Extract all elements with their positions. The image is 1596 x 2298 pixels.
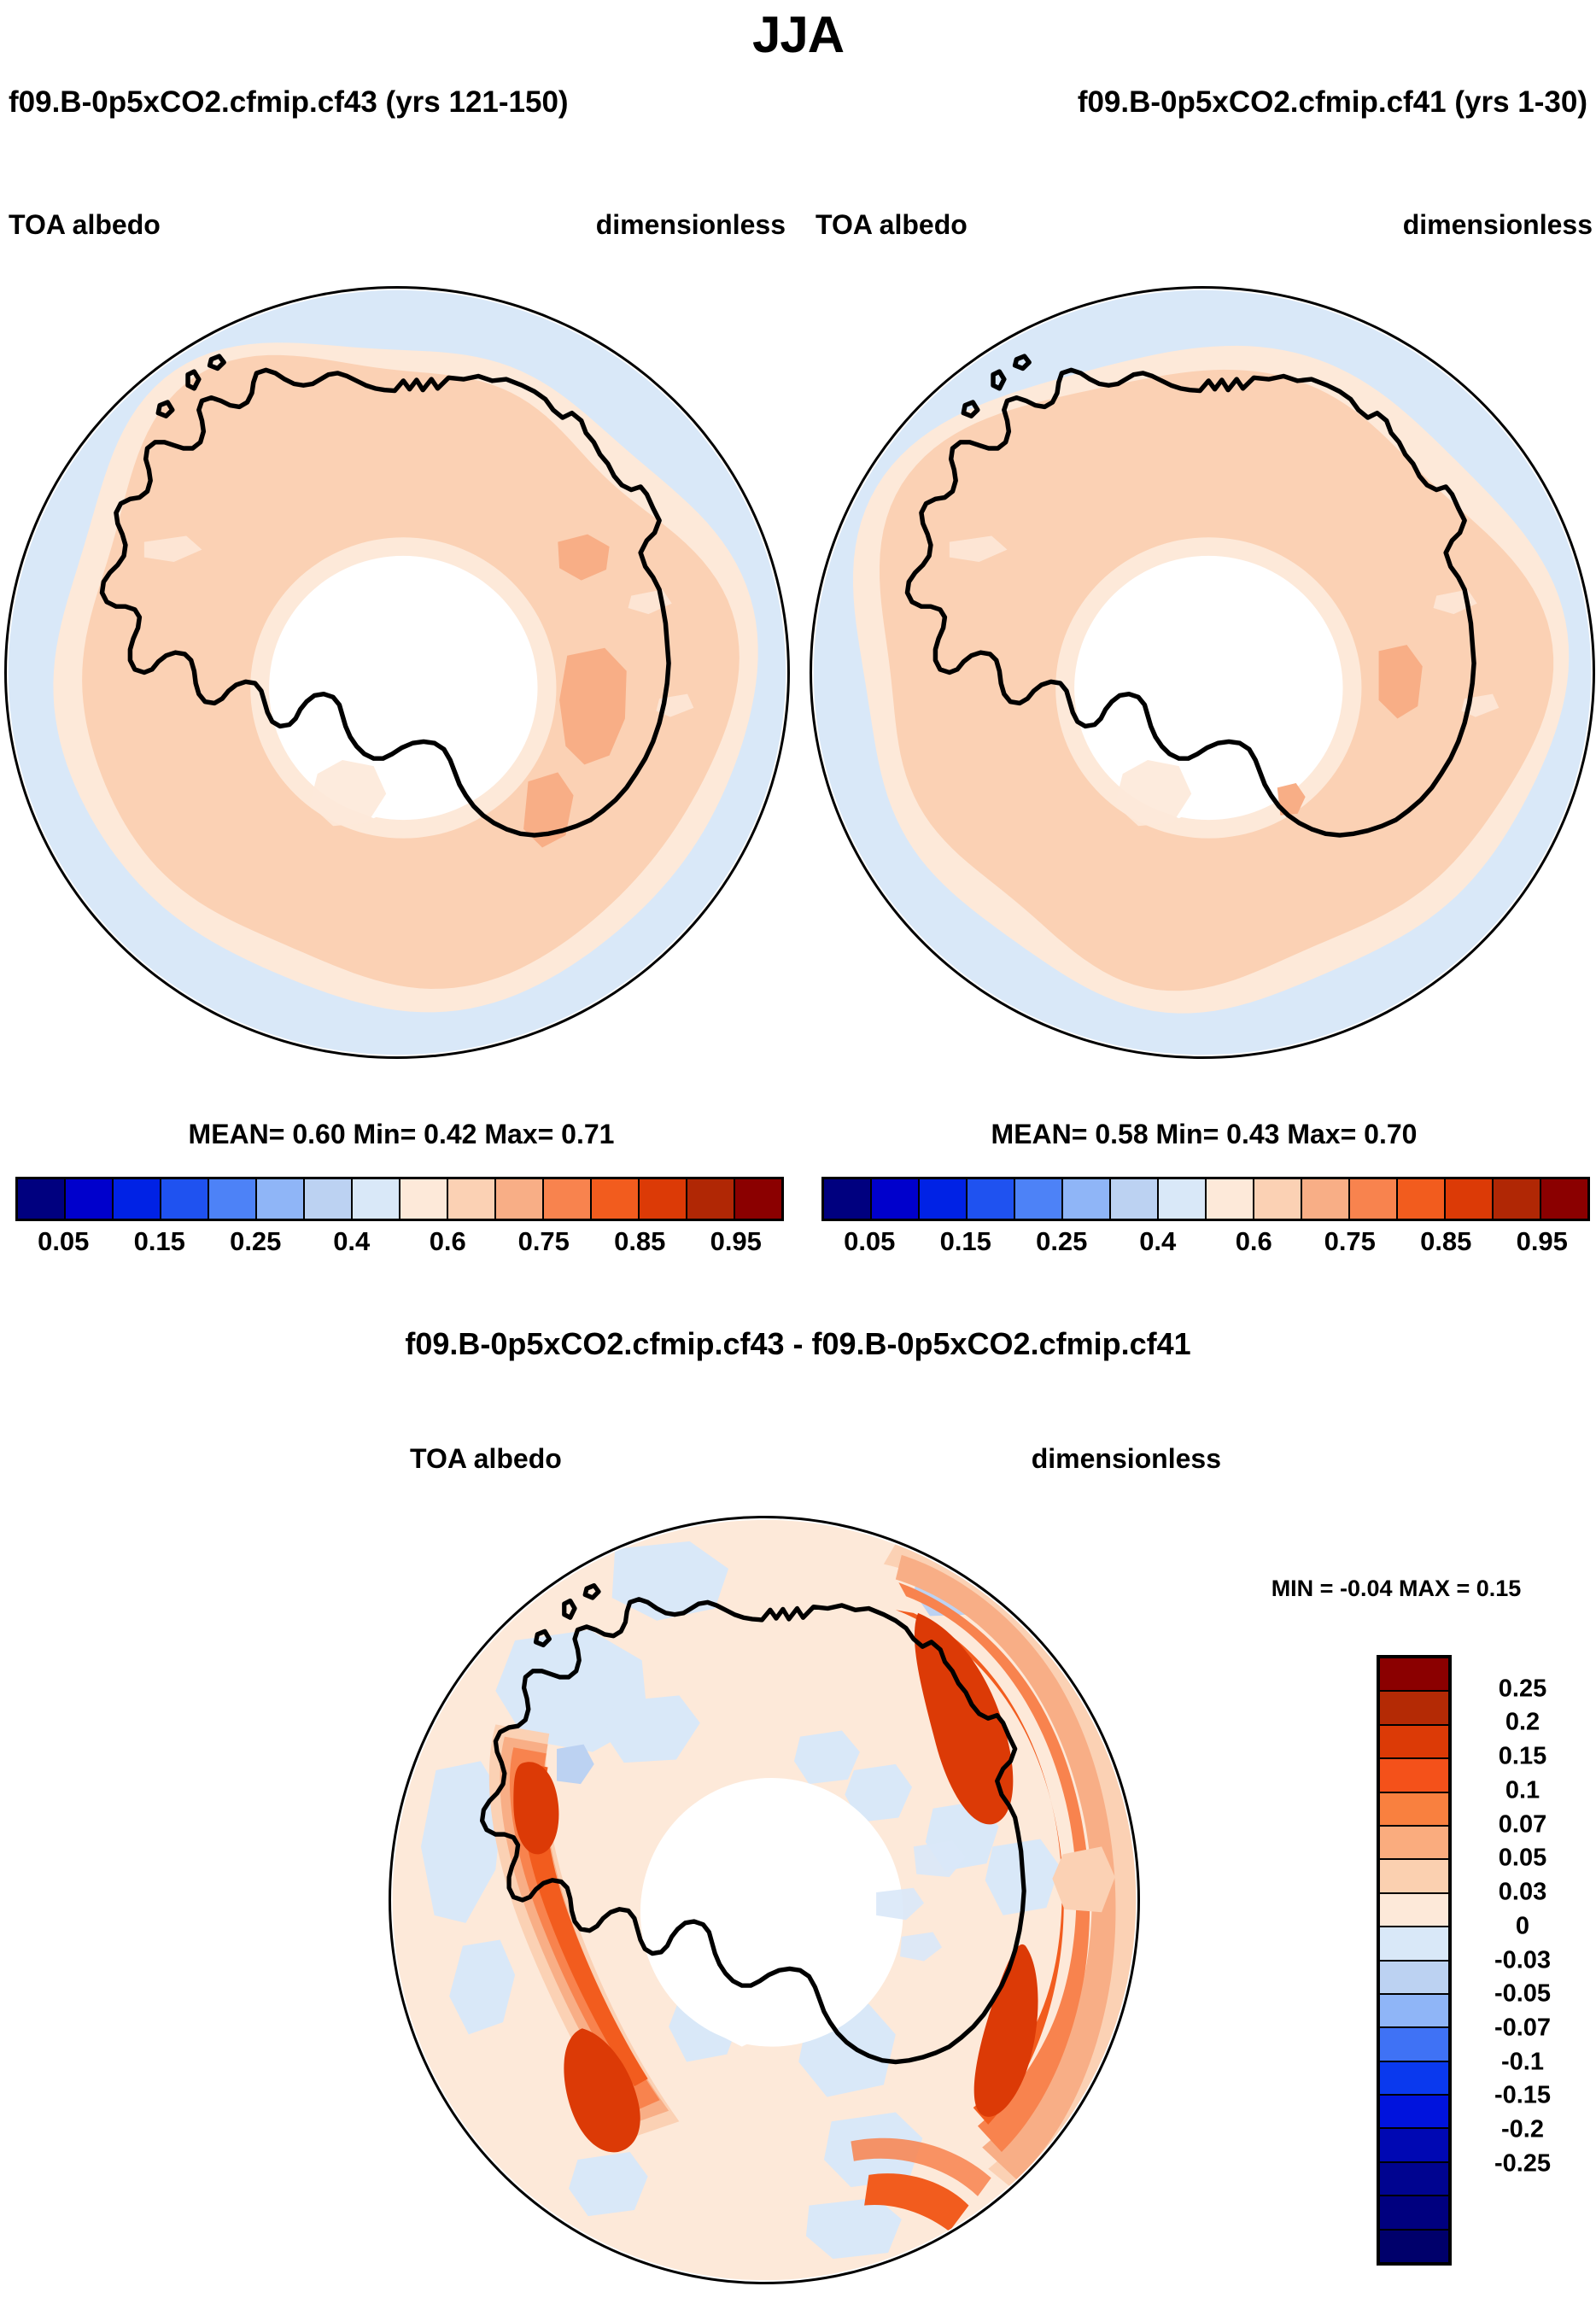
colorbar-cell	[1350, 1179, 1398, 1219]
colorbar-cell	[257, 1179, 305, 1219]
colorbar-cell	[1380, 1692, 1448, 1725]
colorbar-cell	[1380, 2028, 1448, 2061]
colorbar-cell	[1380, 1962, 1448, 1995]
colorbar-cell	[1015, 1179, 1063, 1219]
colorbar-cell	[544, 1179, 592, 1219]
colorbar-tick-label: 0.4	[1139, 1226, 1176, 1257]
right-panel-sublabels: TOA albedo dimensionless	[816, 209, 1593, 241]
panel-title-row: f09.B-0p5xCO2.cfmip.cf43 (yrs 121-150) f…	[0, 85, 1596, 120]
colorbar-tick-label: 0.95	[710, 1226, 762, 1257]
colorbar-cell	[1380, 1759, 1448, 1792]
map-canvas	[812, 289, 1593, 1056]
colorbar-cell	[448, 1179, 496, 1219]
colorbar-cell	[161, 1179, 209, 1219]
left-unit-label: dimensionless	[596, 209, 786, 241]
colorbar-tick-label: 0.2	[1462, 1709, 1583, 1737]
colorbar-tick-label: -0.07	[1462, 2014, 1583, 2042]
colorbar-tick-label: 0.05	[844, 1226, 895, 1257]
left-colorbar[interactable]: 0.050.150.250.40.60.750.850.95	[15, 1177, 784, 1264]
colorbar-cell	[1541, 1179, 1587, 1219]
right-panel-title: f09.B-0p5xCO2.cfmip.cf41 (yrs 1-30)	[1078, 85, 1587, 120]
colorbar-cell	[920, 1179, 968, 1219]
left-stats: MEAN= 0.60 Min= 0.42 Max= 0.71	[17, 1119, 786, 1150]
colorbar-cell	[1207, 1179, 1254, 1219]
left-colorbar-cells[interactable]	[15, 1177, 784, 1221]
colorbar-cell	[1380, 1726, 1448, 1759]
colorbar-tick-label: -0.25	[1462, 2149, 1583, 2178]
colorbar-tick-label: -0.1	[1462, 2048, 1583, 2076]
right-unit-label: dimensionless	[1403, 209, 1593, 241]
colorbar-cell	[1446, 1179, 1494, 1219]
colorbar-tick-label: 0.95	[1517, 1226, 1568, 1257]
colorbar-cell	[1398, 1179, 1446, 1219]
map-panel-cf41[interactable]	[810, 286, 1595, 1059]
colorbar-cell	[18, 1179, 66, 1219]
map-canvas	[391, 1518, 1137, 2282]
colorbar-cell	[687, 1179, 735, 1219]
colorbar-tick-label: 0.1	[1462, 1776, 1583, 1804]
colorbar-tick-label: -0.15	[1462, 2082, 1583, 2110]
colorbar-cell	[1380, 2062, 1448, 2096]
colorbar-cell	[640, 1179, 687, 1219]
diff-minmax: MIN = -0.04 MAX = 0.15	[1204, 1576, 1588, 1602]
colorbar-tick-label: 0.85	[614, 1226, 665, 1257]
right-variable-label: TOA albedo	[816, 209, 968, 241]
colorbar-tick-label: 0.85	[1420, 1226, 1471, 1257]
map-panel-cf43[interactable]	[4, 286, 790, 1059]
colorbar-cell	[1380, 1995, 1448, 2028]
colorbar-tick-label: 0.03	[1462, 1879, 1583, 1907]
map-panel-difference[interactable]	[389, 1516, 1140, 2284]
colorbar-cell	[1380, 2231, 1448, 2262]
colorbar-tick-label: 0.25	[1462, 1675, 1583, 1703]
colorbar-cell	[735, 1179, 781, 1219]
colorbar-tick-label: 0.6	[1236, 1226, 1272, 1257]
left-colorbar-labels: 0.050.150.250.40.60.750.850.95	[15, 1226, 784, 1264]
colorbar-cell	[1380, 2096, 1448, 2129]
colorbar-cell	[872, 1179, 920, 1219]
colorbar-cell	[1380, 2163, 1448, 2196]
colorbar-cell	[1380, 1658, 1448, 1692]
left-panel-sublabels: TOA albedo dimensionless	[9, 209, 786, 241]
diff-colorbar[interactable]: 0.250.20.150.10.070.050.030-0.03-0.05-0.…	[1377, 1655, 1590, 2266]
right-colorbar-cells[interactable]	[821, 1177, 1590, 1221]
diff-panel-title: f09.B-0p5xCO2.cfmip.cf43 - f09.B-0p5xCO2…	[0, 1326, 1596, 1362]
colorbar-tick-label: 0.05	[1462, 1845, 1583, 1873]
colorbar-cell	[1380, 2196, 1448, 2230]
page-title: JJA	[0, 5, 1596, 64]
right-colorbar[interactable]: 0.050.150.250.40.60.750.850.95	[821, 1177, 1590, 1264]
colorbar-tick-label: -0.03	[1462, 1946, 1583, 1974]
colorbar-cell	[209, 1179, 257, 1219]
colorbar-cell	[824, 1179, 872, 1219]
colorbar-cell	[1380, 1894, 1448, 1927]
diff-unit-label: dimensionless	[1032, 1443, 1221, 1475]
colorbar-cell	[1380, 1827, 1448, 1860]
colorbar-cell	[1159, 1179, 1207, 1219]
diff-panel-sublabels: TOA albedo dimensionless	[410, 1443, 1221, 1475]
colorbar-cell	[1380, 1793, 1448, 1827]
colorbar-tick-label: -0.2	[1462, 2116, 1583, 2144]
colorbar-tick-label: 0.15	[1462, 1743, 1583, 1771]
left-panel-title: f09.B-0p5xCO2.cfmip.cf43 (yrs 121-150)	[9, 85, 569, 120]
colorbar-cell	[1380, 1927, 1448, 1961]
colorbar-cell	[305, 1179, 353, 1219]
right-stats: MEAN= 0.58 Min= 0.43 Max= 0.70	[820, 1119, 1588, 1150]
colorbar-cell	[1254, 1179, 1302, 1219]
colorbar-cell	[353, 1179, 400, 1219]
colorbar-cell	[496, 1179, 544, 1219]
colorbar-cell	[592, 1179, 640, 1219]
colorbar-cell	[1494, 1179, 1541, 1219]
colorbar-tick-label: 0.25	[1036, 1226, 1087, 1257]
colorbar-cell	[1380, 1860, 1448, 1893]
colorbar-cell	[66, 1179, 114, 1219]
colorbar-tick-label: 0.15	[134, 1226, 185, 1257]
colorbar-tick-label: 0.07	[1462, 1810, 1583, 1839]
right-colorbar-labels: 0.050.150.250.40.60.750.850.95	[821, 1226, 1590, 1264]
colorbar-cell	[1380, 2129, 1448, 2162]
diff-colorbar-cells[interactable]	[1377, 1655, 1452, 2266]
map-canvas	[7, 289, 787, 1056]
colorbar-tick-label: 0.4	[333, 1226, 370, 1257]
figure-canvas: JJA f09.B-0p5xCO2.cfmip.cf43 (yrs 121-15…	[0, 0, 1596, 2298]
colorbar-tick-label: 0.05	[38, 1226, 89, 1257]
colorbar-tick-label: 0	[1462, 1912, 1583, 1940]
colorbar-cell	[1111, 1179, 1159, 1219]
colorbar-tick-label: 0.25	[230, 1226, 281, 1257]
colorbar-cell	[1302, 1179, 1350, 1219]
colorbar-cell	[400, 1179, 448, 1219]
colorbar-cell	[968, 1179, 1015, 1219]
colorbar-tick-label: 0.6	[430, 1226, 466, 1257]
diff-variable-label: TOA albedo	[410, 1443, 562, 1475]
colorbar-cell	[114, 1179, 161, 1219]
diff-colorbar-labels: 0.250.20.150.10.070.050.030-0.03-0.05-0.…	[1462, 1655, 1590, 2266]
colorbar-tick-label: 0.75	[1324, 1226, 1376, 1257]
colorbar-tick-label: -0.05	[1462, 1980, 1583, 2009]
colorbar-cell	[1063, 1179, 1111, 1219]
left-variable-label: TOA albedo	[9, 209, 161, 241]
colorbar-tick-label: 0.75	[518, 1226, 570, 1257]
colorbar-tick-label: 0.15	[940, 1226, 991, 1257]
